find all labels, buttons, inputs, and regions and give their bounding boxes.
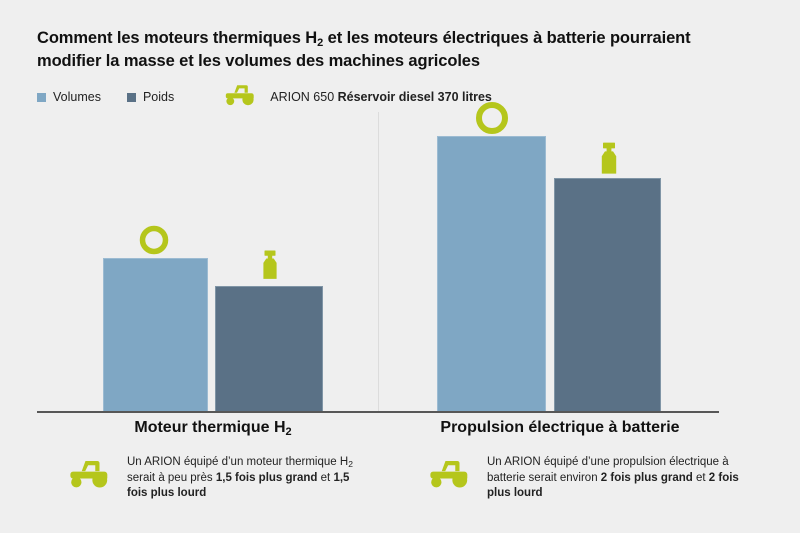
title-line1-part-b: et les moteurs électriques à batterie po… [323, 29, 690, 47]
legend-label-poids: Poids [143, 90, 174, 104]
category-label-thermique-subscript: 2 [286, 426, 292, 438]
footnote-thermique-h: H [340, 456, 348, 468]
footnote-thermique-t3: et [317, 472, 333, 484]
bar-poids-thermique[interactable] [215, 286, 323, 411]
footnote-electrique: Un ARION équipé d’une propulsion électri… [428, 455, 748, 502]
legend-swatch-poids-icon [127, 93, 136, 102]
title-subscript: 2 [317, 37, 323, 49]
ring-icon [138, 224, 170, 261]
footnote-thermique-t1: Un ARION équipé d’un moteur thermique [127, 456, 340, 468]
tractor-icon [428, 459, 473, 494]
category-label-thermique: Moteur thermique H2 [113, 419, 313, 437]
bar-volumes-thermique[interactable] [103, 258, 208, 411]
legend-reference-group: ARION 650 Réservoir diesel 370 litres [224, 84, 492, 111]
page-title: Comment les moteurs thermiques H2 et les… [37, 28, 753, 72]
category-label-electrique-text: Propulsion électrique à batterie [440, 419, 679, 436]
legend-item-poids[interactable]: Poids [127, 90, 174, 104]
weight-icon [259, 250, 281, 285]
baseline-axis [37, 411, 719, 413]
legend-reference-model: ARION 650 [270, 90, 337, 104]
legend-item-volumes[interactable]: Volumes [37, 90, 101, 104]
footnote-thermique-text: Un ARION équipé d’un moteur thermique H2… [127, 455, 368, 502]
group-divider [378, 112, 379, 412]
weight-icon [597, 142, 621, 180]
footnote-thermique-t2: serait à peu près [127, 472, 216, 484]
infographic-canvas: Comment les moteurs thermiques H2 et les… [0, 0, 800, 533]
footnote-electrique-t3: et [693, 472, 709, 484]
tractor-icon [224, 84, 258, 111]
ring-icon [474, 100, 510, 141]
category-label-electrique: Propulsion électrique à batterie [410, 419, 710, 437]
footnote-thermique-bold1: 1,5 fois plus grand [216, 472, 318, 484]
footnote-electrique-bold1: 2 fois plus grand [601, 472, 693, 484]
chart-legend: Volumes Poids ARION 650 Réservoir diesel… [37, 88, 492, 106]
legend-reference-spec: Réservoir diesel 370 litres [338, 90, 492, 104]
footnote-thermique-subscript: 2 [348, 459, 353, 469]
legend-swatch-volumes-icon [37, 93, 46, 102]
category-label-thermique-text: Moteur thermique H [134, 419, 285, 436]
title-line1-part-a: Comment les moteurs thermiques H [37, 29, 317, 47]
legend-reference-caption: ARION 650 Réservoir diesel 370 litres [270, 90, 492, 104]
bar-volumes-electrique[interactable] [437, 136, 546, 411]
tractor-icon [68, 459, 113, 494]
title-line2: modifier la masse et les volumes des mac… [37, 52, 480, 70]
footnote-thermique: Un ARION équipé d’un moteur thermique H2… [68, 455, 368, 502]
footnote-electrique-text: Un ARION équipé d’une propulsion électri… [487, 455, 748, 502]
legend-label-volumes: Volumes [53, 90, 101, 104]
bar-poids-electrique[interactable] [554, 178, 661, 411]
